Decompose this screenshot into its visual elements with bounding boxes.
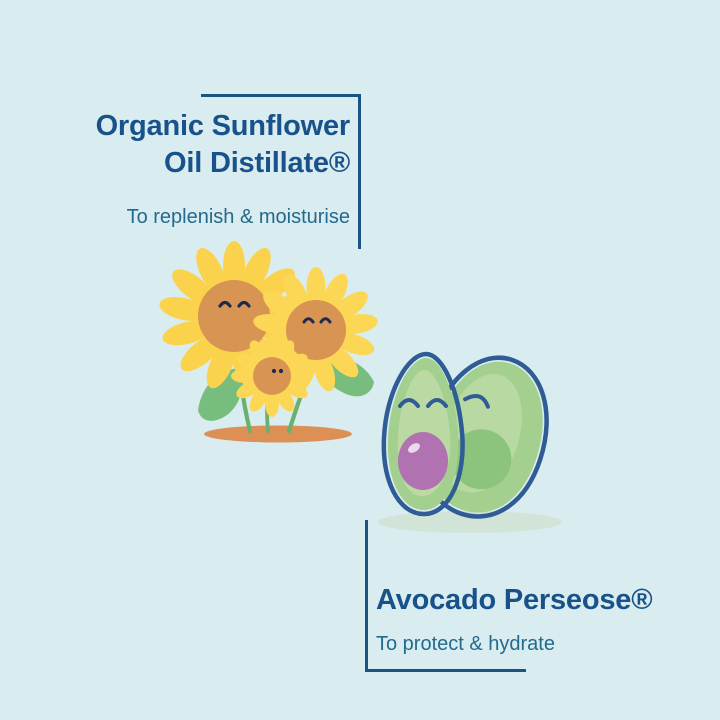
soil-mound-shape (204, 426, 352, 443)
avocado-subheading: To protect & hydrate (376, 631, 706, 657)
bottom-bracket-horizontal-rule (365, 669, 526, 672)
sunflower-heading-line-1: Organic Sunflower (96, 110, 350, 142)
sunflower-heading: Organic Sunflower Oil Distillate® (0, 108, 350, 182)
top-bracket-vertical-rule (358, 94, 361, 249)
bottom-bracket-vertical-rule (365, 520, 368, 672)
sunflower-subheading: To replenish & moisturise (0, 204, 350, 230)
promo-graphic-canvas: Organic Sunflower Oil Distillate® To rep… (0, 0, 720, 720)
small-sunflower-center (253, 357, 291, 395)
sunflower-text-block: Organic Sunflower Oil Distillate® To rep… (0, 108, 350, 230)
sunflower-heading-line-2: Oil Distillate® (164, 147, 350, 179)
avocado-text-block: Avocado Perseose® To protect & hydrate (376, 582, 706, 657)
left-avocado-pit (398, 432, 448, 490)
medium-sunflower-center (286, 300, 346, 360)
avocado-illustration (366, 350, 586, 540)
avocado-heading: Avocado Perseose® (376, 582, 706, 619)
top-bracket-horizontal-rule (201, 94, 361, 97)
